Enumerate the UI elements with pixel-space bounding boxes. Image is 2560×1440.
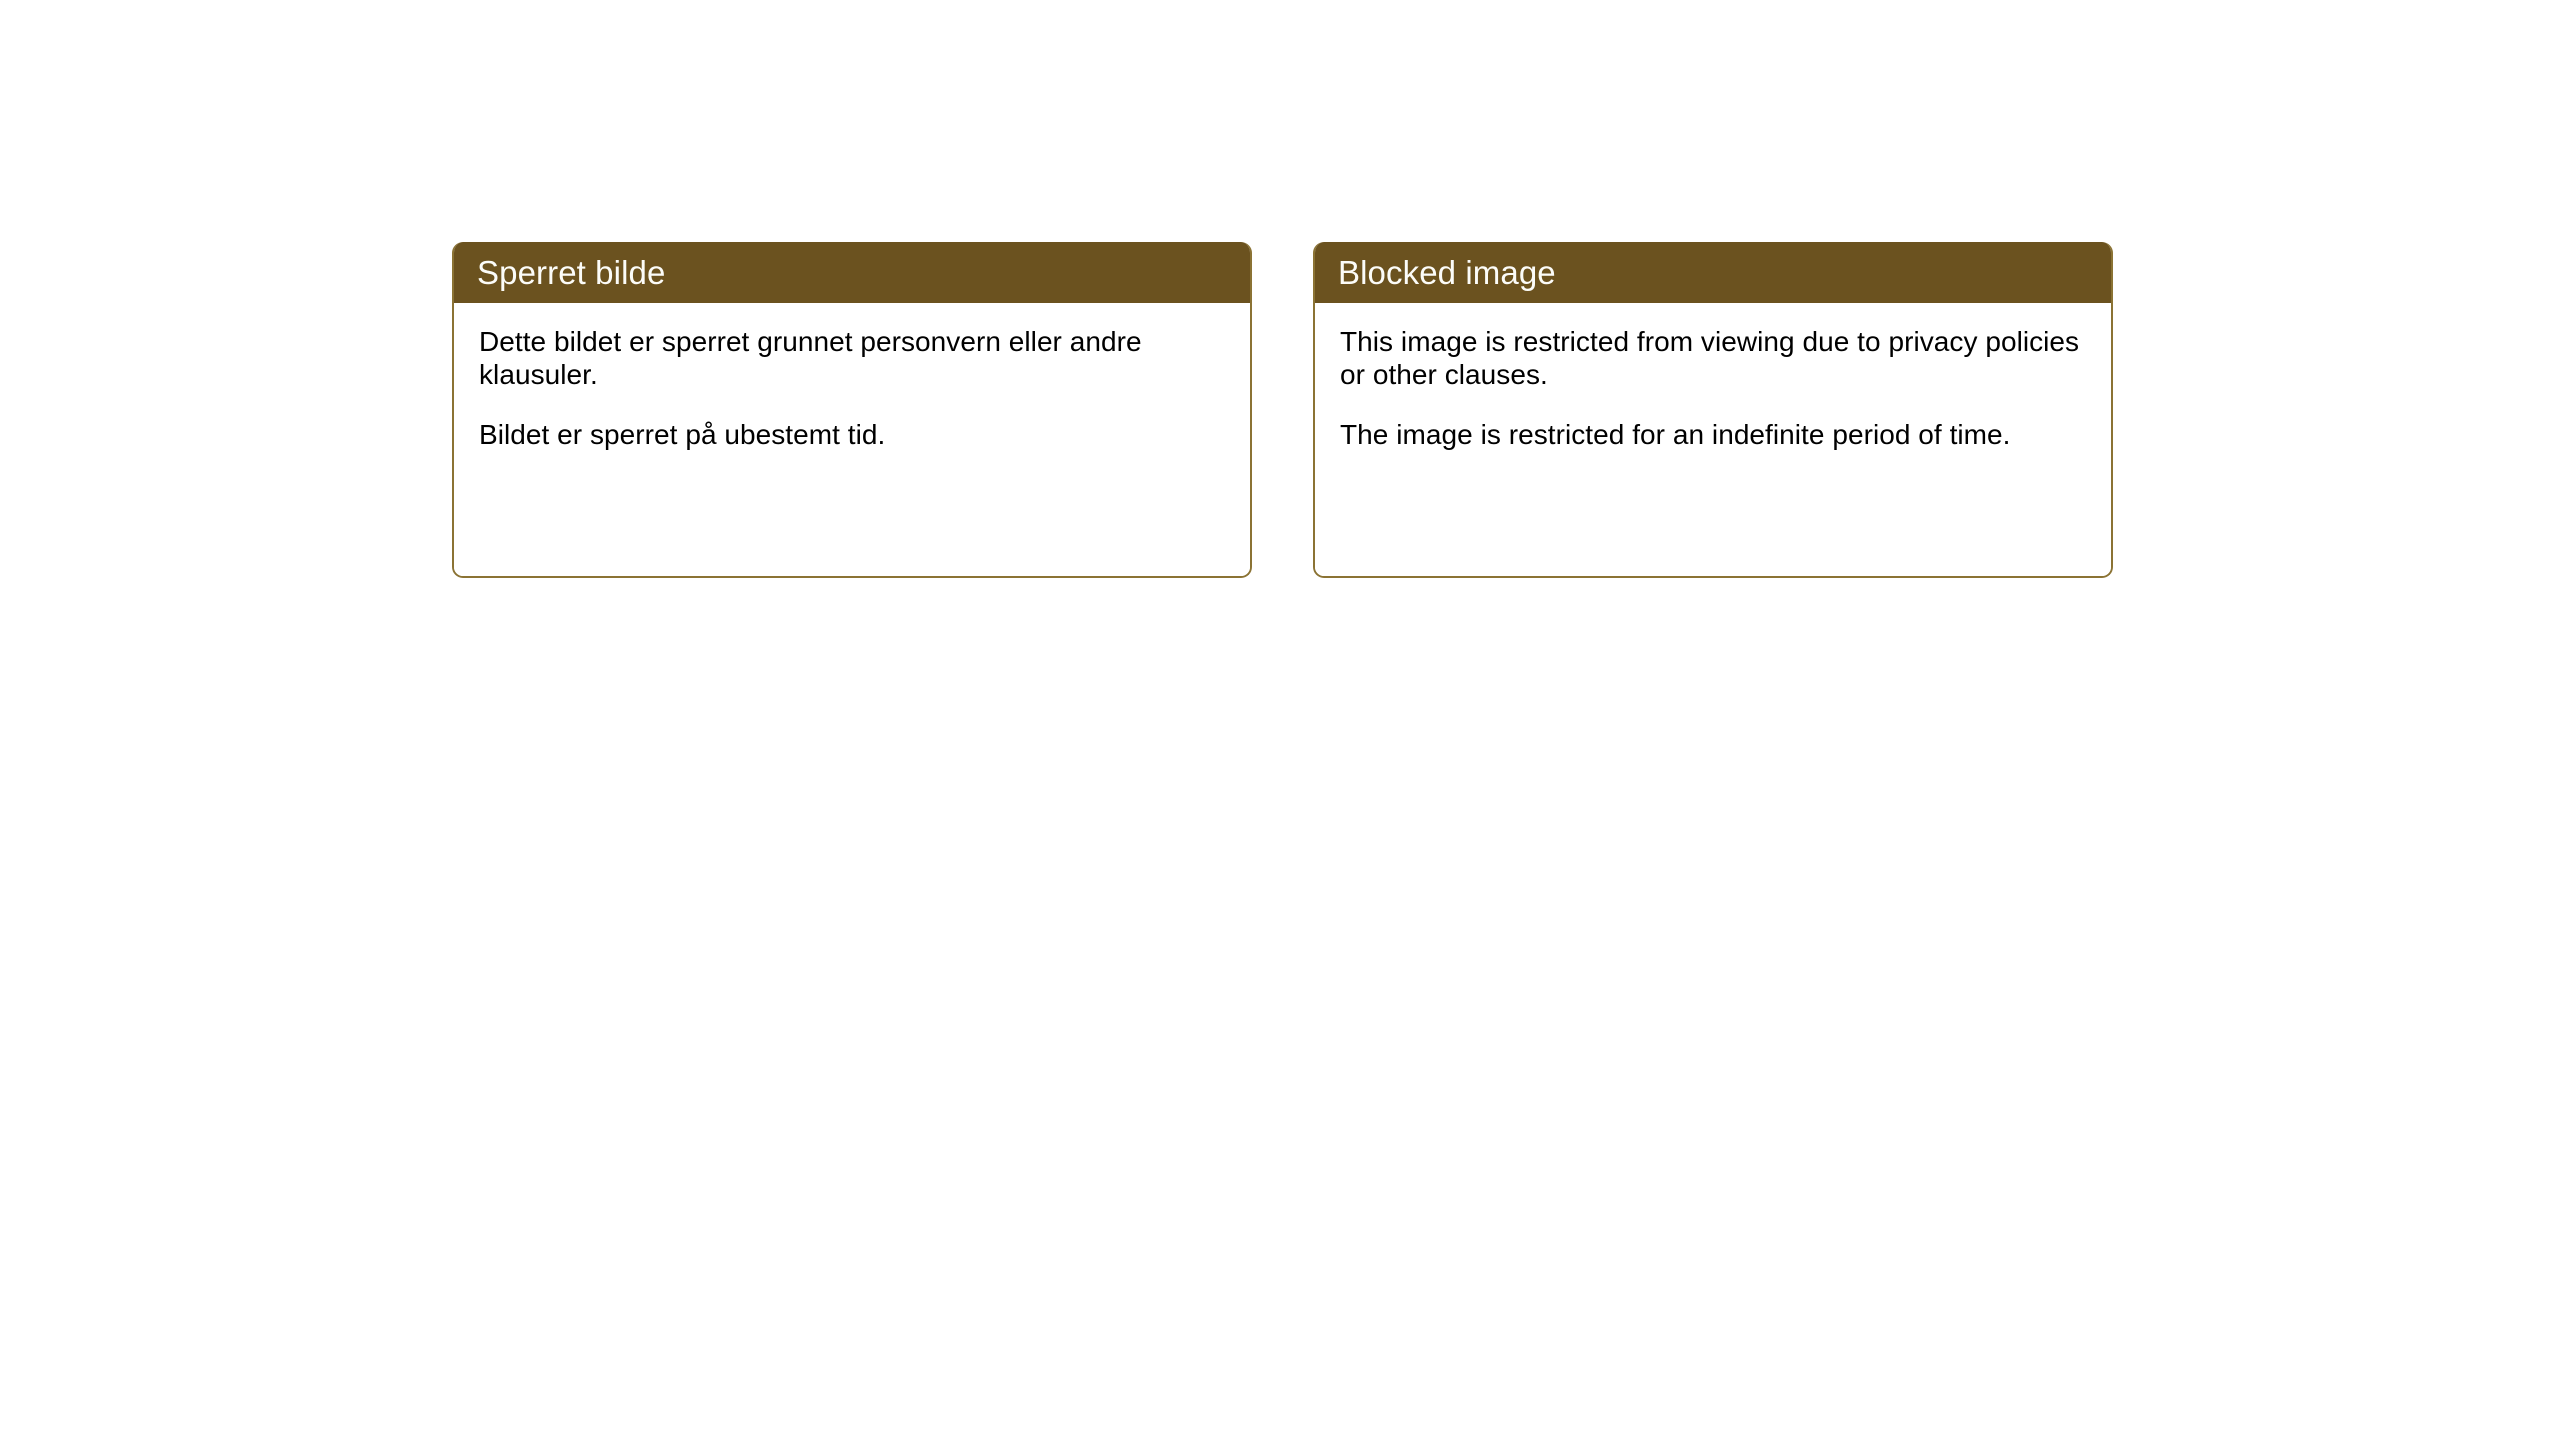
paragraph-spacer xyxy=(1340,391,2085,418)
blocked-image-notices: Sperret bilde Dette bildet er sperret gr… xyxy=(452,242,2113,578)
card-paragraph-english-2: The image is restricted for an indefinit… xyxy=(1340,418,2085,451)
card-header-norwegian: Sperret bilde xyxy=(452,242,1252,303)
card-body-english: This image is restricted from viewing du… xyxy=(1315,303,2111,576)
page-canvas: Sperret bilde Dette bildet er sperret gr… xyxy=(0,0,2560,1440)
card-title-norwegian: Sperret bilde xyxy=(477,256,665,289)
card-title-english: Blocked image xyxy=(1338,256,1556,289)
blocked-image-card-norwegian: Sperret bilde Dette bildet er sperret gr… xyxy=(452,242,1252,578)
card-body-norwegian: Dette bildet er sperret grunnet personve… xyxy=(454,303,1250,576)
card-paragraph-english-1: This image is restricted from viewing du… xyxy=(1340,325,2085,391)
card-paragraph-norwegian-1: Dette bildet er sperret grunnet personve… xyxy=(479,325,1224,391)
blocked-image-card-english: Blocked image This image is restricted f… xyxy=(1313,242,2113,578)
card-paragraph-norwegian-2: Bildet er sperret på ubestemt tid. xyxy=(479,418,1224,451)
card-header-english: Blocked image xyxy=(1313,242,2113,303)
paragraph-spacer xyxy=(479,391,1224,418)
